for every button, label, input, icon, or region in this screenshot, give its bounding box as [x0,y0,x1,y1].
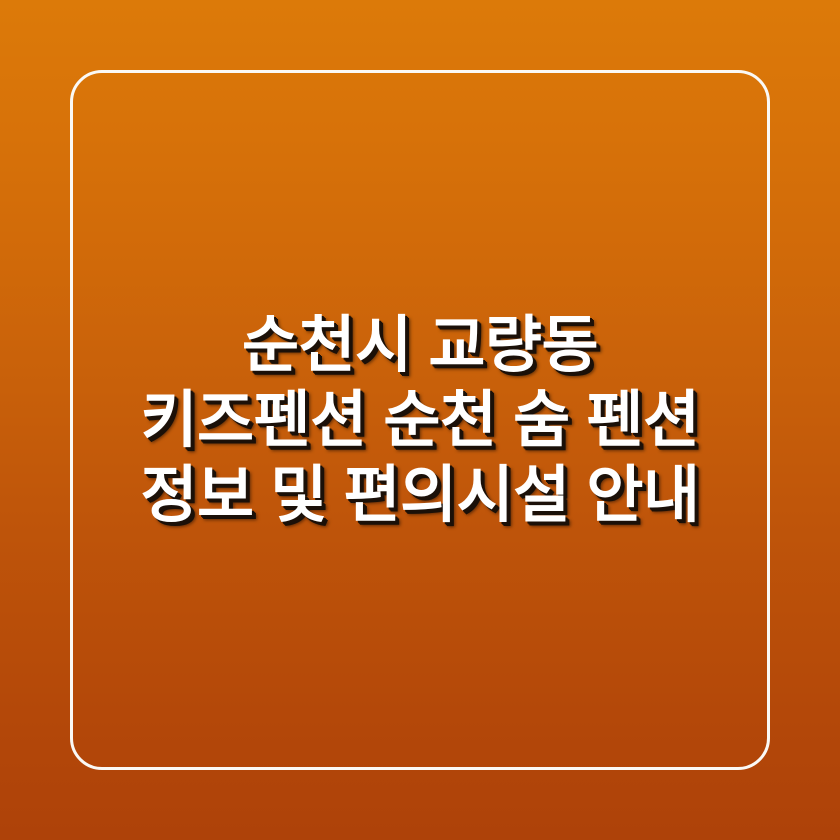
headline-line-3: 정보 및 편의시설 안내 [90,458,750,533]
headline-line-2: 키즈펜션 순천 숨 펜션 [90,383,750,458]
poster-card: 순천시 교량동 키즈펜션 순천 숨 펜션 정보 및 편의시설 안내 [0,0,840,840]
headline-block: 순천시 교량동 키즈펜션 순천 숨 펜션 정보 및 편의시설 안내 [0,0,840,840]
headline-line-1: 순천시 교량동 [90,308,750,383]
